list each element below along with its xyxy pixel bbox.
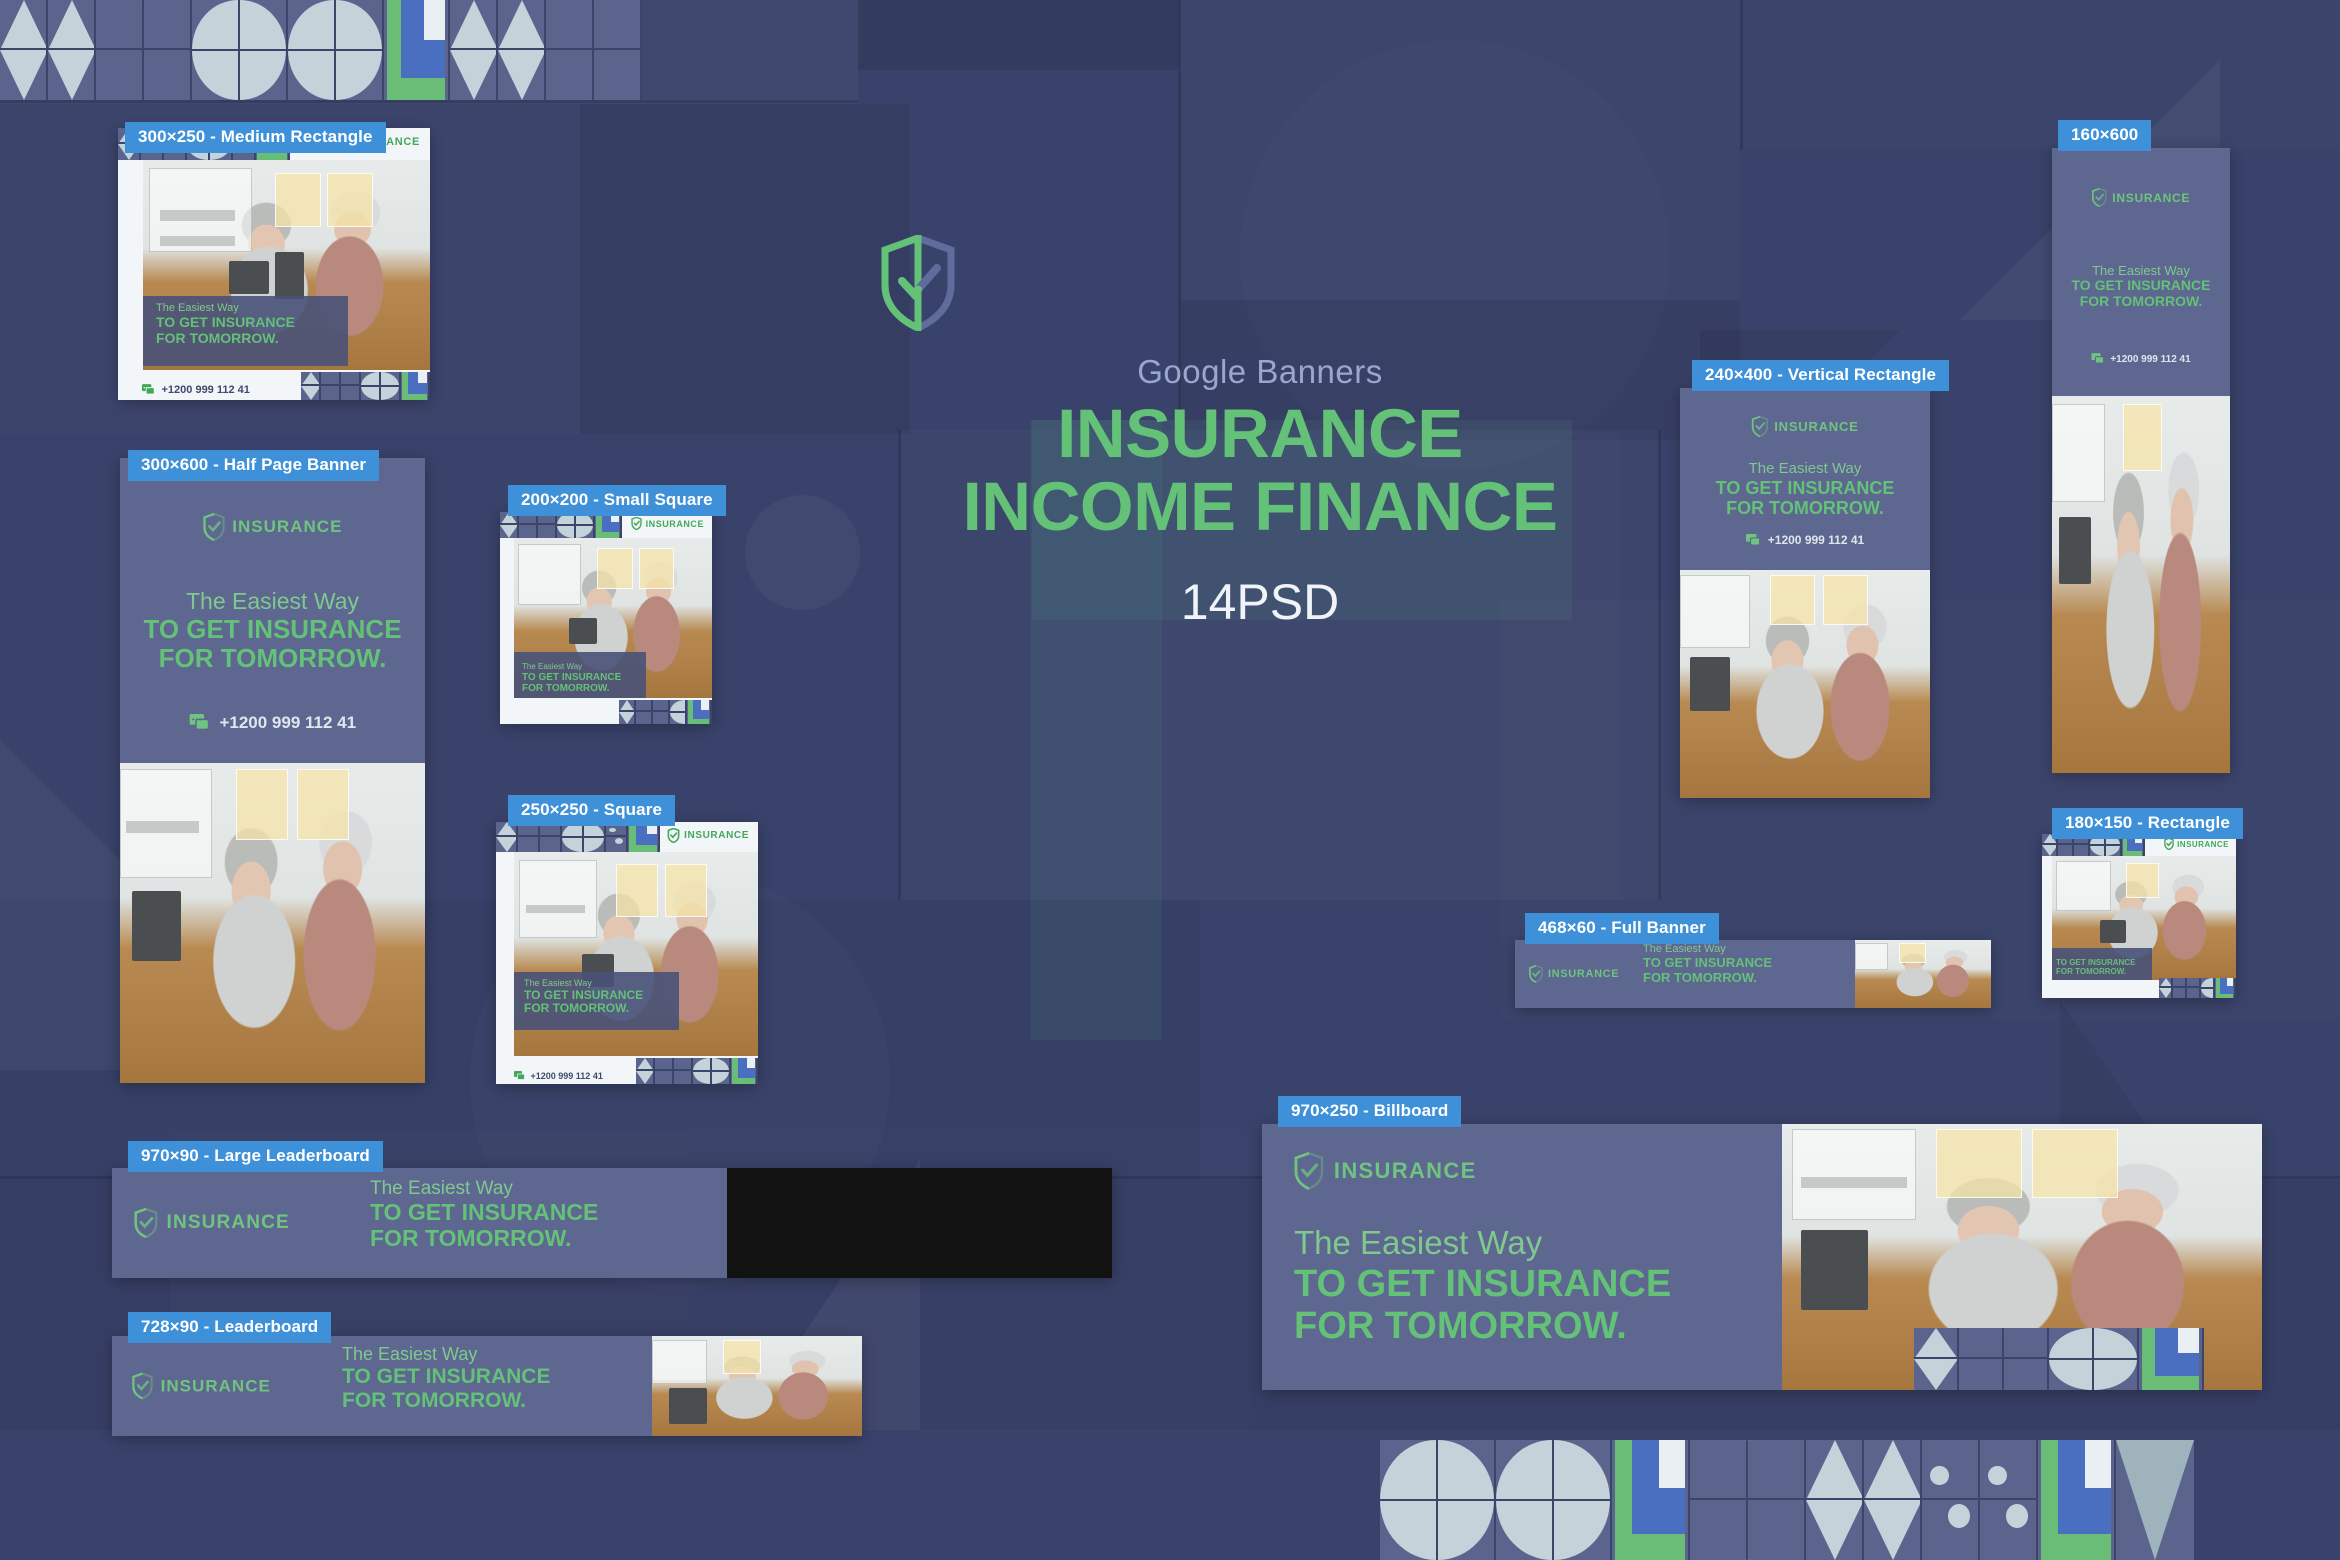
pattern-divider <box>557 524 574 526</box>
pattern-divider <box>2049 1358 2092 1360</box>
chat-bubbles-icon <box>2091 353 2105 365</box>
pattern-concave-star <box>1748 1500 1804 1560</box>
brand-name: INSURANCE <box>232 517 342 537</box>
pattern-dot <box>615 838 623 844</box>
pattern-concave-star <box>518 837 538 852</box>
pattern-triangle <box>1914 1328 1957 1359</box>
shield-check-icon <box>132 1373 153 1400</box>
pattern-half <box>674 1071 691 1084</box>
pattern-divider <box>2094 1358 2137 1360</box>
pattern-half <box>500 525 517 538</box>
pattern-triangle <box>2159 978 2171 988</box>
pattern-half <box>96 0 142 50</box>
logo-tile-L <box>401 372 430 400</box>
pattern-cell <box>1690 1440 1748 1560</box>
headline-small: The Easiest Way <box>1294 1224 1671 1263</box>
logo-tile-white <box>701 700 709 710</box>
pattern-half <box>518 837 538 852</box>
pattern-concave-star <box>321 386 339 400</box>
pattern-cell <box>712 1058 731 1084</box>
logo-tile-green <box>629 845 657 852</box>
pattern-dot <box>1948 1504 1970 1528</box>
shield-check-icon <box>880 235 1640 331</box>
pattern-half <box>321 386 339 400</box>
banner-square[interactable]: INSURANCE The Easiest Way TO GET INSURAN… <box>496 822 758 1084</box>
logo-tile-white <box>418 372 427 383</box>
banner-tag-square: 250×250 - Square <box>508 795 675 826</box>
banner-pattern-bottom <box>2159 978 2236 998</box>
pattern-cell <box>48 0 96 100</box>
pattern-half <box>653 700 668 712</box>
headline: TO GET INSURANCE FOR TOMORROW. <box>2056 959 2135 977</box>
pattern-cell <box>336 0 384 100</box>
brand-name: INSURANCE <box>1334 1158 1477 1184</box>
headline: The Easiest Way TO GET INSURANCE FOR TOM… <box>370 1178 598 1252</box>
pattern-half <box>1914 1328 1957 1359</box>
pattern-half <box>1748 1500 1804 1560</box>
pattern-concave-star <box>546 0 592 48</box>
pattern-half <box>301 386 319 400</box>
pattern-half <box>636 1058 653 1071</box>
pattern-cell <box>1438 1440 1496 1560</box>
logo-tile-L <box>1612 1440 1690 1560</box>
pattern-cell <box>2094 1328 2139 1390</box>
pattern-half <box>2058 845 2072 856</box>
hero-section: Google Banners INSURANCE INCOME FINANCE … <box>880 235 1640 631</box>
pattern-triangle <box>636 1058 653 1071</box>
banner-rectangle[interactable]: INSURANCE TO GET INSURANCE FOR TOMORROW. <box>2042 834 2236 998</box>
pattern-cell <box>361 372 381 400</box>
pattern-triangle <box>301 372 319 386</box>
headline-big-line2: FOR TOMORROW. <box>524 1002 643 1015</box>
hero-title-line2: INCOME FINANCE <box>880 470 1640 543</box>
pattern-triangle <box>498 0 544 50</box>
headline-big-line2: FOR TOMORROW. <box>522 683 621 694</box>
logo-tile-L <box>628 822 660 852</box>
pattern-cell <box>1748 1440 1806 1560</box>
headline: The Easiest Way TO GET INSURANCE FOR TOM… <box>1294 1224 1671 1348</box>
pattern-concave-star <box>2004 1328 2047 1357</box>
pattern-divider <box>1380 1499 1436 1501</box>
pattern-concave-star <box>1690 1440 1746 1498</box>
logo-tile-green <box>2216 994 2233 998</box>
logo-lockup: INSURANCE <box>203 513 343 541</box>
logo-tile-triangle <box>2116 1440 2194 1560</box>
headline-big-line1: TO GET INSURANCE <box>342 1365 550 1389</box>
logo-tile-L <box>2139 1328 2204 1390</box>
logo-tile-green <box>2142 1376 2200 1390</box>
pattern-cell <box>655 1058 674 1084</box>
pattern-half <box>1959 1328 2002 1359</box>
pattern-concave-star <box>674 1071 691 1084</box>
pattern-cell <box>96 0 144 100</box>
headline-small: The Easiest Way <box>522 662 621 671</box>
logo-lockup: INSURANCE <box>1529 965 1619 983</box>
pattern-concave-star <box>96 50 142 100</box>
banner-tag-leaderboard: 728×90 - Leaderboard <box>128 1312 331 1343</box>
pattern-half <box>301 372 319 386</box>
pattern-concave-star <box>2187 988 2199 998</box>
shield-check-icon <box>1529 965 1543 983</box>
pattern-concave-star <box>594 50 640 100</box>
pattern-half <box>2173 988 2185 998</box>
shield-check-icon <box>2164 838 2174 850</box>
pattern-half <box>144 0 190 50</box>
pattern-cell <box>693 1058 712 1084</box>
pattern-divider <box>562 836 582 838</box>
brand-name: INSURANCE <box>2177 840 2229 849</box>
pattern-triangle <box>636 1071 653 1084</box>
headline-big-line2: FOR TOMORROW. <box>370 1226 598 1252</box>
pattern-triangle <box>1864 1500 1920 1560</box>
pattern-cell <box>619 700 636 724</box>
pattern-concave-star <box>96 0 142 48</box>
pattern-cell <box>1864 1440 1922 1560</box>
pattern-triangle <box>1806 1440 1862 1500</box>
bg-divider <box>1740 0 1743 150</box>
shield-check-icon <box>134 1208 158 1238</box>
pattern-half <box>450 0 496 50</box>
pattern-half <box>2187 988 2199 998</box>
banner-medium-rectangle[interactable]: INSURANCE The Easiest Way TO GET INSURAN… <box>118 128 430 400</box>
headline-big-line1: TO GET INSURANCE <box>524 989 643 1002</box>
pattern-triangle <box>0 50 46 100</box>
headline-big-line1: TO GET INSURANCE <box>522 672 621 683</box>
pattern-half <box>2159 988 2171 998</box>
chat-bubbles-icon <box>142 384 156 396</box>
pattern-divider <box>1496 1499 1552 1501</box>
logo-tile-green <box>257 153 286 160</box>
banner-pattern-bottom <box>301 372 430 400</box>
shield-check-icon <box>1294 1152 1324 1190</box>
phone-number: +1200 999 112 41 <box>219 713 356 733</box>
chat-bubbles-icon <box>514 1071 526 1081</box>
logo-lockup: INSURANCE <box>132 1373 271 1400</box>
banner-tag-rectangle: 180×150 - Rectangle <box>2052 808 2243 839</box>
logo-lockup: INSURANCE <box>1294 1152 1477 1190</box>
pattern-cell <box>450 0 498 100</box>
banner-leaderboard[interactable]: INSURANCE The Easiest Way TO GET INSURAN… <box>112 1336 862 1436</box>
pattern-half <box>546 0 592 50</box>
pattern-half <box>1864 1440 1920 1500</box>
pattern-half <box>655 1071 672 1084</box>
logo-tile-white <box>2178 1328 2199 1353</box>
pattern-divider <box>192 49 238 51</box>
phone-number: +1200 999 112 41 <box>162 384 250 396</box>
pattern-cell <box>496 822 518 852</box>
pattern-concave-star <box>655 1058 672 1069</box>
banner-tag-medium-rectangle: 300×250 - Medium Rectangle <box>125 122 386 153</box>
pattern-half <box>1980 1440 2036 1500</box>
lifestyle-photo <box>2052 396 2230 773</box>
logo-lockup: INSURANCE <box>2164 838 2229 850</box>
pattern-half <box>594 50 640 100</box>
phone-number: +1200 999 112 41 <box>1768 533 1864 547</box>
pattern-concave-star <box>2004 1359 2047 1390</box>
pattern-half <box>2074 845 2088 856</box>
headline: The Easiest Way TO GET INSURANCE FOR TOM… <box>120 588 425 673</box>
logo-tile-green <box>2041 1534 2111 1560</box>
pattern-cell <box>301 372 321 400</box>
pattern-triangle <box>498 50 544 100</box>
lifestyle-photo <box>1680 570 1930 798</box>
pattern-concave-star <box>1690 1500 1746 1560</box>
pattern-divider <box>670 711 685 713</box>
pattern-triangle <box>450 50 496 100</box>
pattern-cell <box>562 822 584 852</box>
pattern-half <box>0 50 46 100</box>
brand-name: INSURANCE <box>646 519 704 529</box>
pattern-cell <box>498 0 546 100</box>
bg-block <box>580 104 910 434</box>
logo-tile-white <box>424 0 446 40</box>
lifestyle-photo <box>1855 940 1991 1008</box>
phone-row: +1200 999 112 41 <box>2091 353 2190 365</box>
pattern-half <box>498 50 544 100</box>
pattern-concave-star <box>2074 845 2088 856</box>
headline-small: The Easiest Way <box>342 1344 550 1365</box>
pattern-divider <box>240 49 286 51</box>
logo-tile-L <box>687 700 712 724</box>
pattern-cell <box>1806 1440 1864 1560</box>
pattern-half <box>1806 1440 1862 1500</box>
pattern-half <box>1980 1500 2036 1560</box>
pattern-divider <box>693 1070 710 1072</box>
pattern-cell <box>1380 1440 1438 1560</box>
headline: The Easiest Way TO GET INSURANCE FOR TOM… <box>156 302 295 346</box>
logo-tile-green <box>732 1078 755 1084</box>
logo-tile-white <box>2227 978 2233 986</box>
banner-wide-skyscraper[interactable]: INSURANCE The Easiest Way TO GET INSURAN… <box>2052 148 2230 773</box>
pattern-dot <box>2006 1504 2028 1528</box>
logo-tile-L <box>2215 978 2236 998</box>
pattern-divider <box>2090 844 2104 846</box>
lifestyle-photo <box>120 763 425 1083</box>
pattern-cell <box>1922 1440 1980 1560</box>
pattern-triangle <box>301 386 319 400</box>
pattern-concave-star <box>653 700 668 710</box>
pattern-concave-star <box>2173 978 2185 986</box>
banner-billboard[interactable]: INSURANCE The Easiest Way TO GET INSURAN… <box>1262 1124 2262 1390</box>
pattern-divider <box>336 49 382 51</box>
pattern-divider <box>712 1070 729 1072</box>
pattern-triangle <box>2042 845 2056 856</box>
headline-small: The Easiest Way <box>120 588 425 615</box>
logo-tile-green <box>402 394 427 400</box>
pattern-divider <box>2106 844 2120 846</box>
pattern-cell <box>540 822 562 852</box>
pattern-concave-star <box>519 525 536 538</box>
logo-tile-green <box>688 719 709 724</box>
pattern-half <box>1922 1500 1978 1560</box>
headline-big-line1: TO GET INSURANCE <box>2052 278 2230 294</box>
logo-tile-green <box>1615 1534 1685 1560</box>
logo-lockup: INSURANCE <box>667 828 749 843</box>
banner-tag-vertical-rectangle: 240×400 - Vertical Rectangle <box>1692 360 1949 391</box>
pattern-cell <box>341 372 361 400</box>
hero-title-line1: INSURANCE <box>880 397 1640 470</box>
shield-check-icon <box>631 517 642 530</box>
pattern-half <box>1690 1440 1746 1500</box>
brand-name: INSURANCE <box>684 830 749 841</box>
pattern-triangle <box>48 50 94 100</box>
headline: The Easiest Way TO GET INSURANCE FOR TOM… <box>522 662 621 694</box>
pattern-concave-star <box>1959 1359 2002 1390</box>
pattern-cell <box>1554 1440 1612 1560</box>
pattern-half <box>519 525 536 538</box>
bg-block <box>858 0 1178 70</box>
pattern-dot <box>1988 1466 2007 1486</box>
bg-divider <box>1658 430 1661 900</box>
banner-full-banner[interactable]: INSURANCE The Easiest Way TO GET INSURAN… <box>1515 940 1991 1008</box>
pattern-triangle <box>496 837 516 852</box>
pattern-half <box>1690 1500 1746 1560</box>
pattern-half <box>496 837 516 852</box>
pattern-concave-star <box>144 50 190 100</box>
pattern-divider <box>381 385 399 387</box>
chat-bubbles-icon <box>1746 534 1762 547</box>
pattern-cell <box>240 0 288 100</box>
shield-check-icon <box>2092 188 2107 207</box>
pattern-concave-star <box>636 700 651 710</box>
shield-check-icon <box>203 513 225 541</box>
banner-half-page-banner[interactable]: INSURANCE The Easiest Way TO GET INSURAN… <box>120 458 425 1083</box>
headline-big-line2: FOR TOMORROW. <box>2056 968 2135 977</box>
banner-tag-billboard: 970×250 - Billboard <box>1278 1096 1461 1127</box>
banner-large-leaderboard[interactable]: INSURANCE The Easiest Way TO GET INSURAN… <box>112 1168 1112 1278</box>
banner-tag-large-leaderboard: 970×90 - Large Leaderboard <box>128 1141 383 1172</box>
headline-big-line2: FOR TOMORROW. <box>156 331 295 347</box>
logo-tile-white <box>747 1058 756 1068</box>
hero-psd-count: 14PSD <box>880 573 1640 631</box>
pattern-cell <box>2049 1328 2094 1390</box>
pattern-half <box>1914 1359 1957 1390</box>
pattern-half <box>653 712 668 724</box>
pattern-divider <box>576 524 593 526</box>
pattern-cell <box>636 1058 655 1084</box>
pattern-divider <box>1554 1499 1610 1501</box>
headline: The Easiest Way TO GET INSURANCE FOR TOM… <box>1680 460 1930 518</box>
pattern-concave-star <box>594 0 640 48</box>
pattern-cell <box>636 700 653 724</box>
logo-tile-L <box>384 0 450 100</box>
pattern-half <box>48 0 94 50</box>
banner-pattern-bottom <box>636 1058 758 1084</box>
pattern-concave-star <box>341 372 359 384</box>
banner-small-square[interactable]: INSURANCE The Easiest Way TO GET INSURAN… <box>500 512 712 724</box>
pattern-half <box>1959 1359 2002 1390</box>
pattern-concave-star <box>144 0 190 48</box>
pattern-cell <box>144 0 192 100</box>
pattern-cell <box>674 1058 693 1084</box>
logo-lockup: INSURANCE <box>1751 416 1858 437</box>
pattern-triangle <box>619 700 634 712</box>
headline-big-line2: FOR TOMORROW. <box>120 644 425 673</box>
brand-name: INSURANCE <box>161 1376 271 1396</box>
pattern-triangle <box>48 0 94 50</box>
decorative-pattern-strip-top <box>0 0 642 100</box>
chat-bubbles-icon <box>189 714 211 732</box>
logo-lockup: INSURANCE <box>2092 188 2190 207</box>
phone-row: +1200 999 112 41 <box>1746 533 1864 547</box>
pattern-cell <box>653 700 670 724</box>
pattern-triangle <box>450 0 496 50</box>
banner-pattern-top <box>496 822 660 852</box>
pattern-half <box>619 700 634 712</box>
pattern-cell <box>670 700 687 724</box>
pattern-concave-star <box>655 1071 672 1084</box>
pattern-concave-star <box>321 372 339 384</box>
pattern-cell <box>0 0 48 100</box>
pattern-half <box>636 712 651 724</box>
headline-big-line1: TO GET INSURANCE <box>120 615 425 644</box>
banner-pattern-bottom <box>1914 1328 2204 1390</box>
logo-tile-V <box>2116 1440 2194 1560</box>
banner-tag-wide-skyscraper: 160×600 <box>2058 120 2151 151</box>
phone-row: +1200 999 112 41 <box>142 384 250 396</box>
pattern-concave-star <box>540 837 560 852</box>
pattern-cell <box>546 0 594 100</box>
headline-small: The Easiest Way <box>370 1178 598 1200</box>
pattern-divider <box>584 836 604 838</box>
pattern-half <box>546 50 592 100</box>
pattern-concave-star <box>1748 1440 1804 1498</box>
pattern-half <box>144 50 190 100</box>
pattern-divider <box>2201 987 2213 989</box>
pattern-cell <box>2159 978 2173 998</box>
pattern-half <box>450 50 496 100</box>
banner-tag-small-square: 200×200 - Small Square <box>508 485 726 516</box>
headline-small: The Easiest Way <box>2052 263 2230 278</box>
pattern-dot <box>1930 1466 1949 1486</box>
photo-placeholder-dark <box>727 1168 1112 1278</box>
pattern-cell <box>2004 1328 2049 1390</box>
pattern-half <box>1864 1500 1920 1560</box>
headline-big-line1: TO GET INSURANCE <box>156 315 295 331</box>
pattern-divider <box>288 49 334 51</box>
shield-check-icon <box>1751 416 1768 437</box>
headline: The Easiest Way TO GET INSURANCE FOR TOM… <box>342 1344 550 1412</box>
pattern-triangle <box>500 525 517 538</box>
pattern-cell <box>1914 1328 1959 1390</box>
pattern-concave-star <box>546 50 592 100</box>
pattern-half <box>321 372 339 386</box>
headline-big-line1: TO GET INSURANCE <box>1643 956 1772 971</box>
phone-row: +1200 999 112 41 <box>189 713 356 733</box>
pattern-cell <box>288 0 336 100</box>
pattern-cell <box>2201 978 2215 998</box>
headline: The Easiest Way TO GET INSURANCE FOR TOM… <box>524 978 643 1015</box>
pattern-half <box>0 0 46 50</box>
logo-tile-white <box>1659 1440 1685 1488</box>
pattern-concave-star <box>674 1058 691 1069</box>
pattern-concave-star <box>2173 988 2185 998</box>
pattern-triangle <box>1806 1500 1862 1560</box>
pattern-divider <box>1438 1499 1494 1501</box>
pattern-half <box>636 1071 653 1084</box>
pattern-cell <box>381 372 401 400</box>
banner-vertical-rectangle[interactable]: INSURANCE The Easiest Way TO GET INSURAN… <box>1680 388 1930 798</box>
headline-big-line2: FOR TOMORROW. <box>1294 1305 1671 1348</box>
brand-name: INSURANCE <box>1774 419 1858 434</box>
banner-pattern-bottom <box>619 700 712 724</box>
phone-number: +1200 999 112 41 <box>531 1071 603 1081</box>
pattern-concave-star <box>2187 978 2199 986</box>
headline-big-line2: FOR TOMORROW. <box>2052 294 2230 310</box>
phone-number: +1200 999 112 41 <box>2110 354 2190 365</box>
headline-big-line2: FOR TOMORROW. <box>1680 498 1930 518</box>
pattern-half <box>2004 1359 2047 1390</box>
